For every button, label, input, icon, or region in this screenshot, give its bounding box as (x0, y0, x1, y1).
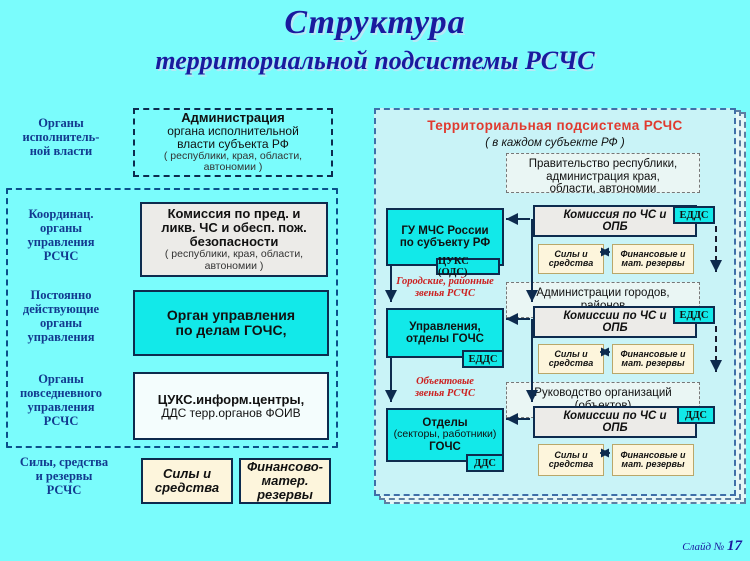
panel-title: Территориальная подсистема РСЧС (376, 118, 734, 133)
red-label-city-district: Городские, районныезвенья РСЧС (382, 276, 508, 300)
badge-eddc-subject[interactable]: ЕДДС (673, 206, 715, 224)
slide-title: Структура территориальной подсистемы РСЧ… (0, 4, 750, 76)
title-line-1: Структура (0, 4, 750, 42)
slide-number-prefix: Слайд № (682, 541, 724, 553)
gochs-title: Орган управленияпо делам ГОЧС, (167, 308, 295, 338)
commission-object-line1: Комиссии по ЧС и (563, 410, 666, 422)
region-government-label: Правительство республики,администрация к… (507, 158, 699, 196)
upravleniya-line2: отделы ГОЧС (406, 333, 484, 345)
forces-subject[interactable]: Силы исредства (538, 244, 604, 274)
commission-city-line2: ОПБ (602, 322, 627, 334)
reserves-city[interactable]: Финансовые имат. резервы (612, 344, 694, 374)
left-box-gochs-body[interactable]: Орган управленияпо делам ГОЧС, (133, 290, 329, 356)
otdely-line2: (секторы, работники) (394, 429, 497, 440)
left-box-administration[interactable]: Администрация органа исполнительнойвласт… (133, 108, 333, 177)
panel-subtitle: ( в каждом субъекте РФ ) (376, 137, 734, 149)
box-commission-object[interactable]: Комиссии по ЧС и ОПБ (533, 406, 697, 438)
badge-ddc-object[interactable]: ДДС (466, 454, 504, 472)
gu-mchs-line1: ГУ МЧС России (401, 225, 488, 237)
reserves-object[interactable]: Финансовые имат. резервы (612, 444, 694, 476)
slide-number-value: 17 (727, 538, 742, 554)
slide-number: Слайд № 17 (682, 538, 742, 555)
left-box-forces-means[interactable]: Силы исредства (141, 458, 233, 504)
title-line-2: территориальной подсистемы РСЧС (0, 46, 750, 76)
commission-subject-line2: ОПБ (602, 221, 627, 233)
badge-ddc-object-right[interactable]: ДДС (677, 406, 715, 424)
left-box-cuks-centers[interactable]: ЦУКС.информ.центры, ДДС терр.органов ФОИ… (133, 372, 329, 440)
left-box-financial-reserves[interactable]: Финансово-матер.резервы (239, 458, 331, 504)
red-label-object: Объектовыезвенья РСЧС (382, 376, 508, 400)
reserves-subject[interactable]: Финансовые имат. резервы (612, 244, 694, 274)
region-government: Правительство республики,администрация к… (506, 153, 700, 193)
cuks-body: ДДС терр.органов ФОИВ (161, 407, 300, 420)
commission-note: ( республики, края, области,автономии ) (165, 249, 303, 271)
commission-title: Комиссия по пред. иликв. ЧС и обесп. пож… (161, 207, 307, 249)
forces-city[interactable]: Силы исредства (538, 344, 604, 374)
badge-eddc-city[interactable]: ЕДДС (462, 350, 504, 368)
upravleniya-line1: Управления, (409, 321, 480, 333)
commission-subject-line1: Комиссия по ЧС и (564, 209, 667, 221)
badge-eddc-city-right[interactable]: ЕДДС (673, 306, 715, 324)
admin-body: органа исполнительнойвласти субъекта РФ (167, 125, 299, 151)
financial-res-label: Финансово-матер.резервы (247, 460, 323, 502)
admin-note: ( республики, края, области,автономии ) (164, 151, 302, 173)
cuks-title: ЦУКС.информ.центры, (158, 393, 304, 407)
rail-label-forces: Силы, средстваи резервыРСЧС (0, 455, 128, 497)
gu-mchs-line2: по субъекту РФ (400, 237, 490, 249)
territorial-subsystem-panel: Территориальная подсистема РСЧС ( в кажд… (374, 108, 736, 496)
rail-label-executive: Органыисполнитель-ной власти (2, 116, 120, 158)
otdely-line3: ГОЧС (429, 441, 461, 453)
admin-title: Администрация (181, 111, 284, 125)
badge-cuks-ods[interactable]: ЦУКС (ОДС) (436, 258, 500, 275)
left-box-commission[interactable]: Комиссия по пред. иликв. ЧС и обесп. пож… (140, 202, 328, 277)
commission-object-line2: ОПБ (602, 422, 627, 434)
forces-means-label: Силы исредства (155, 467, 219, 495)
forces-object[interactable]: Силы исредства (538, 444, 604, 476)
commission-city-line1: Комиссии по ЧС и (563, 310, 666, 322)
